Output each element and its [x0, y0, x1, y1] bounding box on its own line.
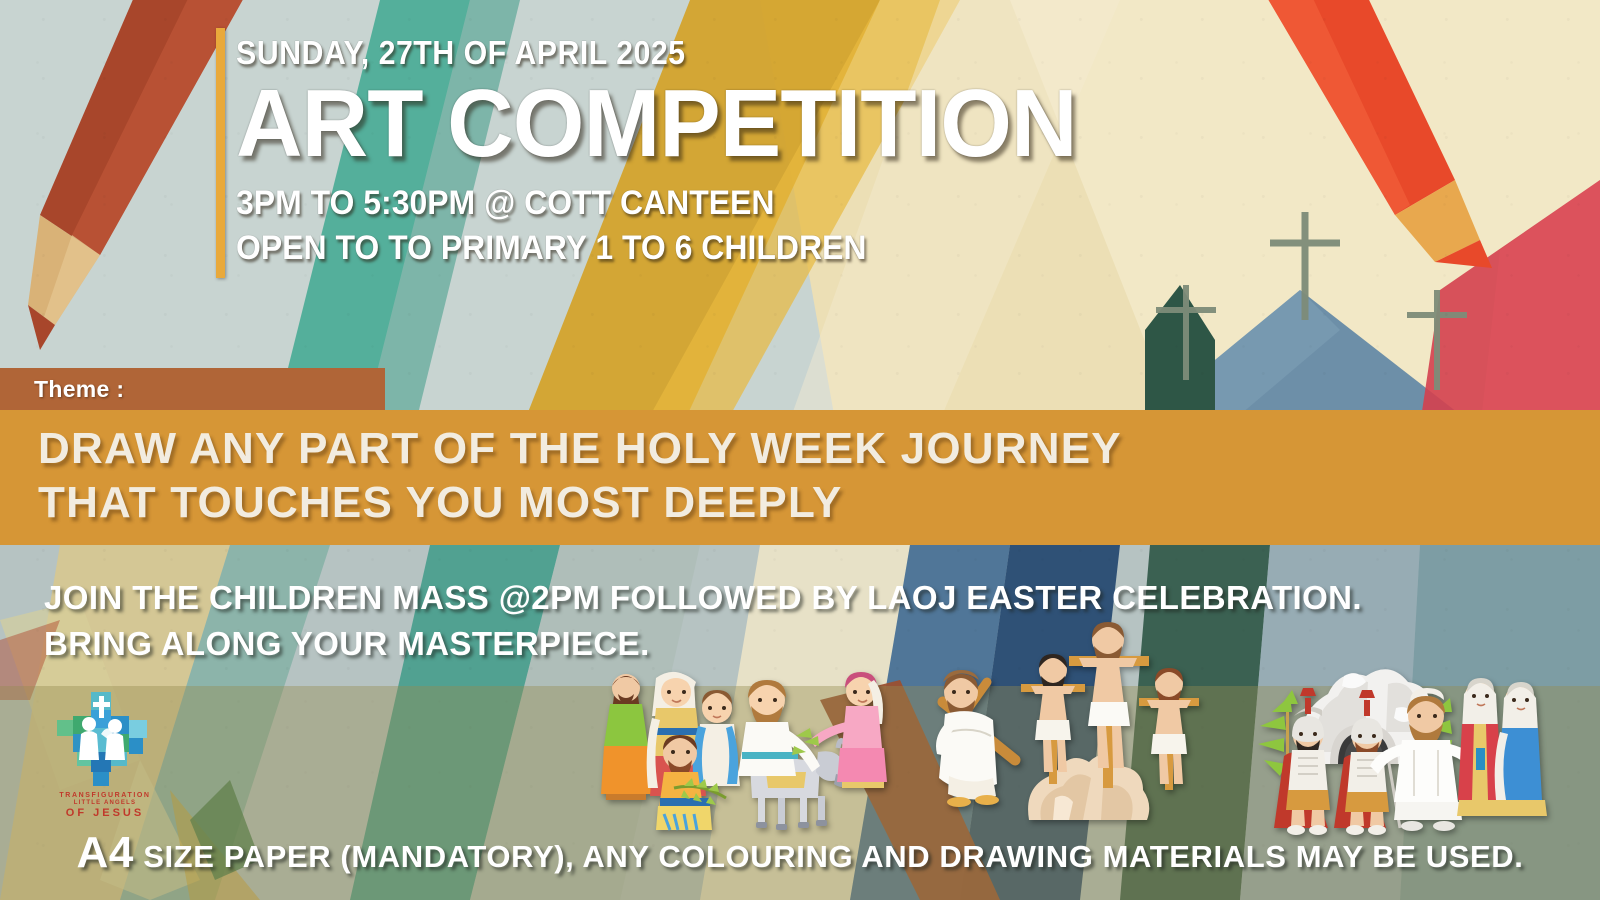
theme-band: DRAW ANY PART OF THE HOLY WEEK JOURNEY T… [0, 410, 1600, 545]
footer-text-group: A4 SIZE PAPER (MANDATORY), ANY COLOURING… [77, 839, 1524, 874]
mosaic-cross-icon [57, 690, 153, 790]
logo-line-2: LITTLE ANGELS [50, 800, 160, 807]
event-time-venue: 3PM TO 5:30PM @ COTT CANTEEN [236, 181, 1176, 226]
footer-note: A4 SIZE PAPER (MANDATORY), ANY COLOURING… [0, 828, 1600, 878]
resurrection-svg [1248, 640, 1548, 835]
page-title: ART COMPETITION [236, 75, 1196, 173]
organization-logo: TRANSFIGURATION LITTLE ANGELS OF JESUS [50, 690, 160, 830]
theme-line-1: DRAW ANY PART OF THE HOLY WEEK JOURNEY [38, 422, 1600, 476]
logo-line-1: TRANSFIGURATION [50, 792, 160, 800]
event-eligibility: OPEN TO TO PRIMARY 1 TO 6 CHILDREN [236, 226, 1176, 271]
crucifixion-svg [925, 620, 1210, 820]
event-date: SUNDAY, 27TH OF APRIL 2025 [236, 36, 1156, 69]
crucifixion-scene [925, 620, 1210, 820]
theme-line-2: THAT TOUCHES YOU MOST DEEPLY [38, 476, 1600, 530]
logo-line-3: OF JESUS [50, 807, 160, 820]
body-line-1: JOIN THE CHILDREN MASS @2PM FOLLOWED BY … [44, 575, 1344, 621]
mosaic-cross-svg [57, 690, 153, 790]
poster-canvas: SUNDAY, 27TH OF APRIL 2025 ART COMPETITI… [0, 0, 1600, 900]
resurrection-scene [1248, 640, 1548, 835]
theme-label: Theme : [34, 376, 124, 403]
palm-sunday-scene [600, 648, 900, 833]
footer-lead: A4 [77, 828, 134, 877]
footer-rest-text: SIZE PAPER (MANDATORY), ANY COLOURING AN… [143, 839, 1523, 874]
accent-bar [216, 28, 225, 278]
header-text-group: SUNDAY, 27TH OF APRIL 2025 ART COMPETITI… [236, 36, 1236, 271]
theme-label-tab: Theme : [0, 368, 385, 410]
footer-rest [134, 839, 143, 874]
logo-wordmark: TRANSFIGURATION LITTLE ANGELS OF JESUS [50, 792, 160, 820]
palm-sunday-svg [600, 648, 900, 833]
